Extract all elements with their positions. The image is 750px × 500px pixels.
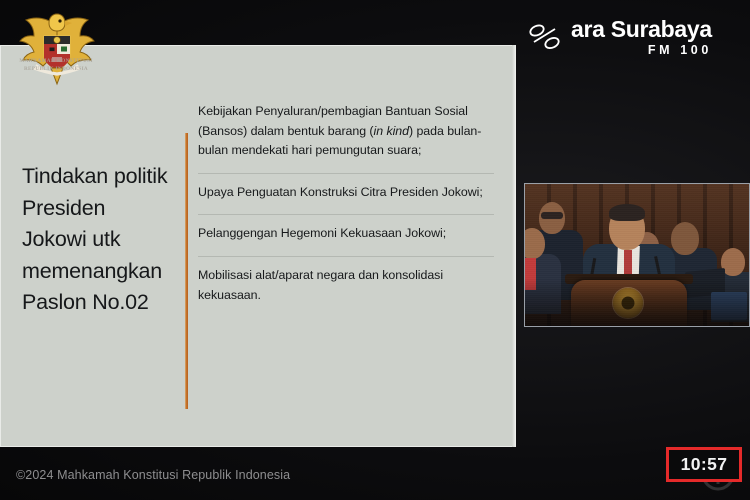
bullet-text-italic: in kind xyxy=(374,124,409,138)
station-name: ara Surabaya xyxy=(571,18,712,41)
copyright-notice: ©2024 Mahkamah Konstitusi Republik Indon… xyxy=(16,468,290,482)
station-logo-text: ara Surabaya FM 100 xyxy=(571,18,712,57)
list-item: Kebijakan Penyaluran/pembagian Bantuan S… xyxy=(198,93,494,173)
bullet-text-part-1: Mobilisasi alat/aparat negara dan konsol… xyxy=(198,268,443,302)
status-badge: 10:57 xyxy=(666,447,742,482)
station-frequency: FM 100 xyxy=(571,44,712,57)
emblem-caption: MAHKAMAH KONSTITUSI REPUBLIK INDONESIA xyxy=(8,58,104,74)
emblem-caption-line1: MAHKAMAH KONSTITUSI xyxy=(19,58,92,64)
garuda-pancasila-emblem-icon xyxy=(14,8,100,86)
clock-time: 10:57 xyxy=(681,454,728,475)
slide-title-column: Tindakan politik Presiden Jokowi utk mem… xyxy=(0,45,182,447)
emblem-caption-line2: REPUBLIK INDONESIA xyxy=(24,66,88,72)
page-title: Tindakan politik Presiden Jokowi utk mem… xyxy=(22,161,174,319)
broadcast-screen: Tindakan politik Presiden Jokowi utk mem… xyxy=(0,0,750,500)
list-item: Pelanggengan Hegemoni Kekuasaan Jokowi; xyxy=(198,214,494,256)
list-item: Upaya Penguatan Konstruksi Citra Preside… xyxy=(198,173,494,215)
suara-surabaya-logo-icon xyxy=(528,22,562,52)
courtroom-live-feed[interactable] xyxy=(524,183,750,327)
bullet-text-part-1: Upaya Penguatan Konstruksi Citra Preside… xyxy=(198,185,483,199)
slide-bullet-column: Kebijakan Penyaluran/pembagian Bantuan S… xyxy=(182,45,516,447)
list-item: Mobilisasi alat/aparat negara dan konsol… xyxy=(198,256,494,317)
station-logo: ara Surabaya FM 100 xyxy=(528,18,712,57)
presentation-slide: Tindakan politik Presiden Jokowi utk mem… xyxy=(0,45,516,447)
vertical-divider xyxy=(185,133,188,409)
bullet-text-part-1: Pelanggengan Hegemoni Kekuasaan Jokowi; xyxy=(198,226,446,240)
